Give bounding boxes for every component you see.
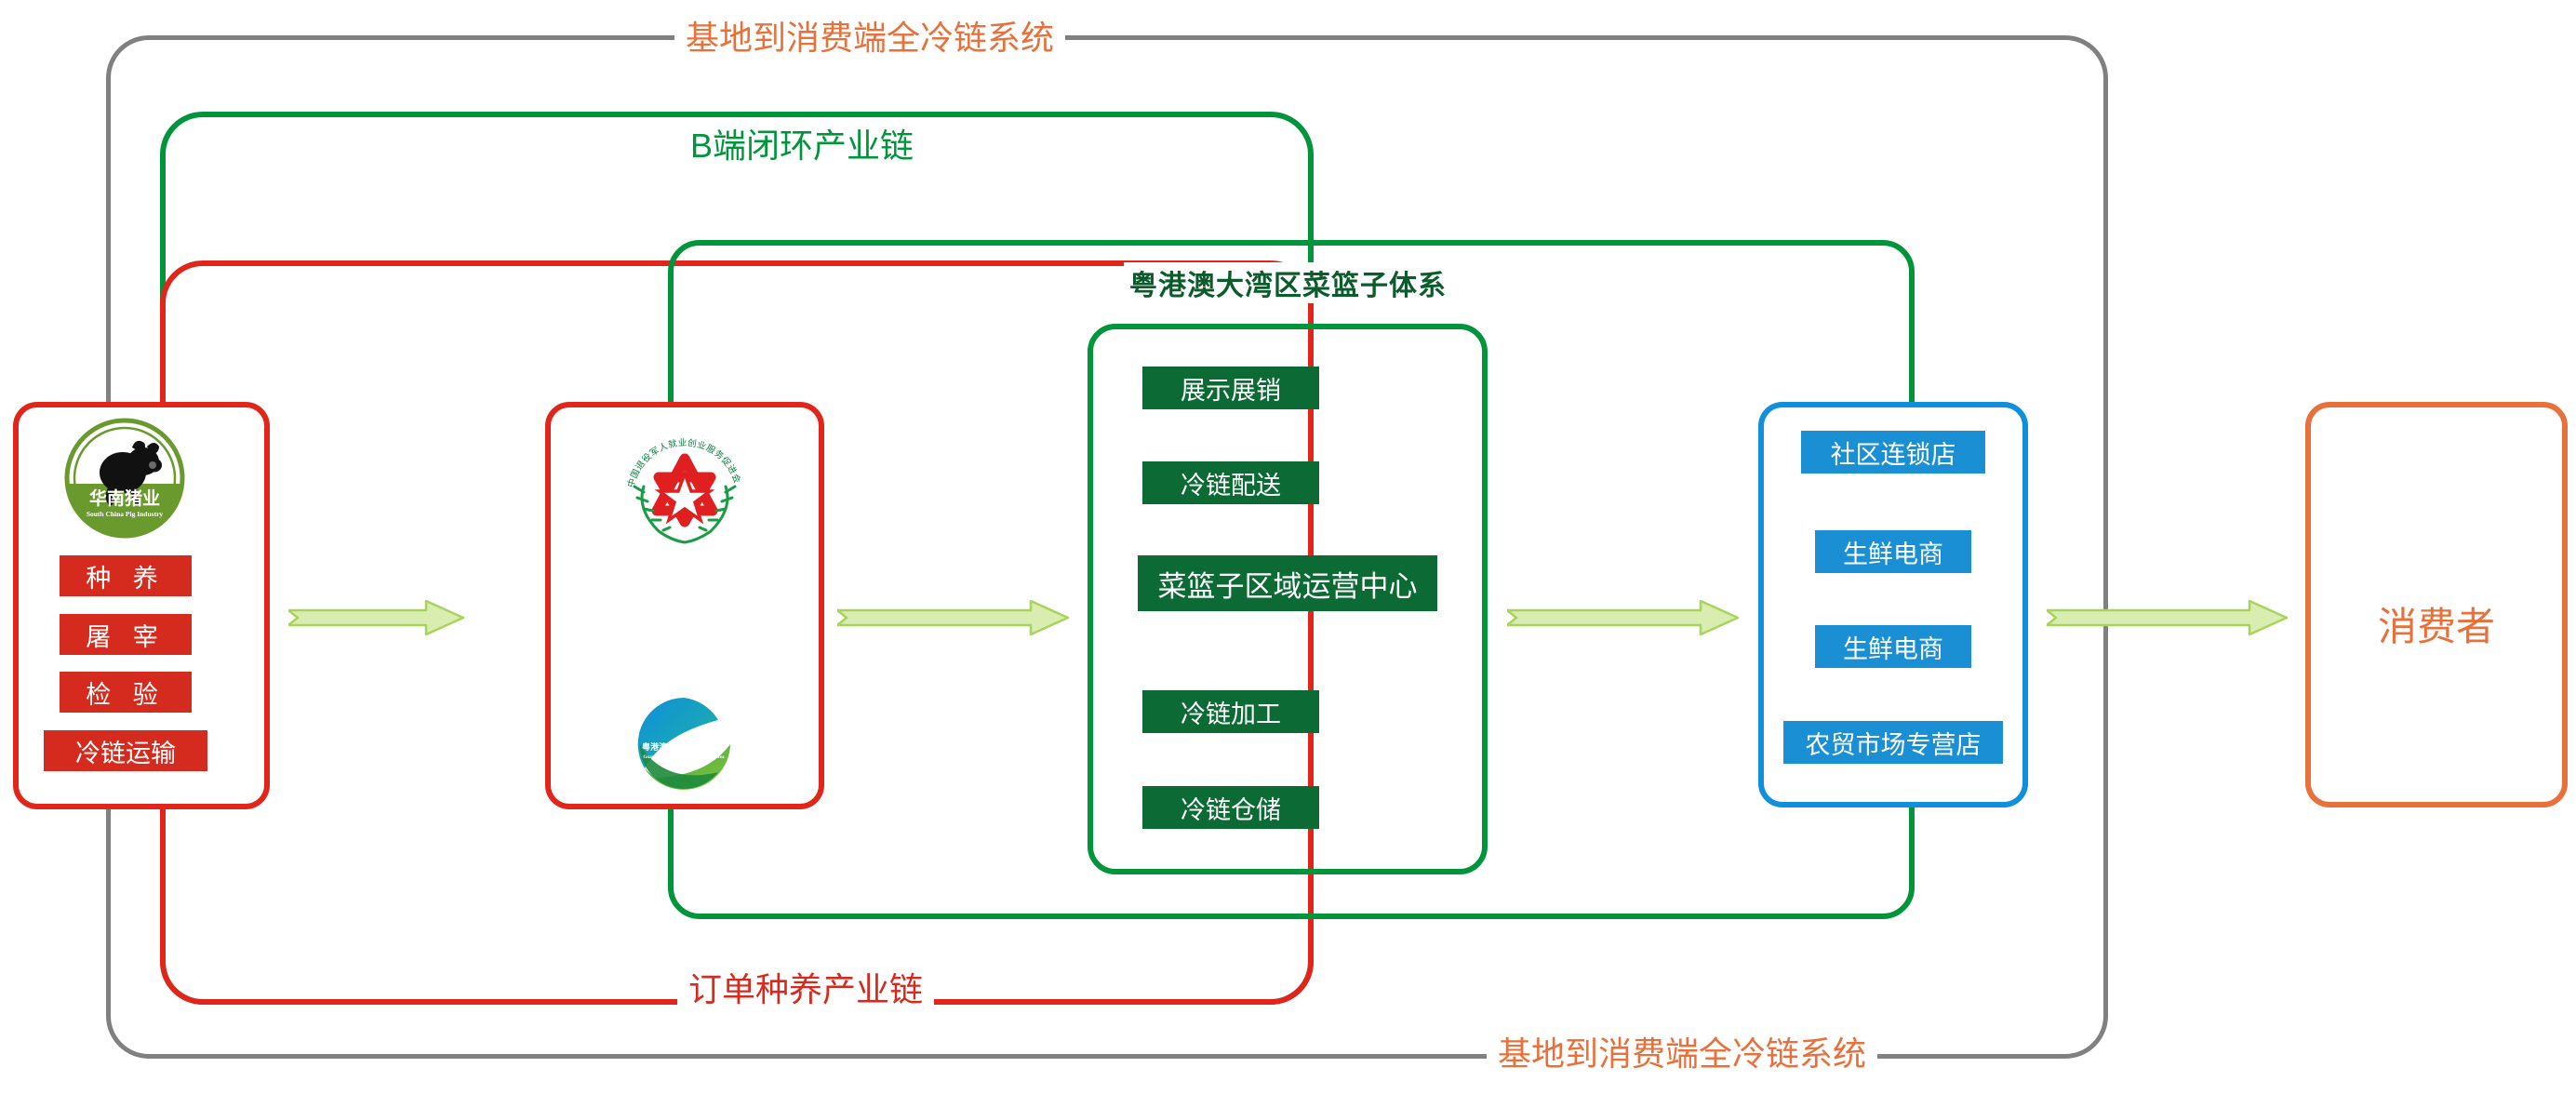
flow-arrow-bay-area-to-retail	[1507, 599, 1740, 636]
greater-bay-area-vegetable-basket-logo-icon: 粤港澳大湾区“菜篮子” Guangdong-HongKong-Macao Bay…	[625, 687, 742, 796]
svg-text:South China Pig Industry: South China Pig Industry	[87, 510, 164, 518]
retail-item-fresh-ecommerce-2[interactable]: 生鲜电商	[1815, 625, 1971, 668]
south-china-pig-logo-icon: 华南猪业 South China Pig Industry	[58, 417, 192, 540]
step-chip-breeding[interactable]: 种 养	[60, 555, 192, 596]
bay-item-cold-storage[interactable]: 冷链仓储	[1142, 786, 1319, 829]
svg-text:粤港澳大湾区“菜篮子”: 粤港澳大湾区“菜篮子”	[642, 741, 726, 752]
diagram-canvas: 基地到消费端全冷链系统 B端闭环产业链 粤港澳大湾区菜篮子体系 订单种养产业链 …	[0, 0, 2576, 1094]
consumer-label: 消费者	[2305, 595, 2568, 652]
svg-text:华南猪业: 华南猪业	[89, 487, 160, 509]
bay-item-cold-delivery[interactable]: 冷链配送	[1142, 461, 1319, 504]
step-chip-cold-transport[interactable]: 冷链运输	[44, 730, 207, 771]
svg-text:Guangdong-HongKong-Macao Bay A: Guangdong-HongKong-Macao Bay Area	[643, 755, 725, 760]
veterans-association-emblem-icon: 中国退役军人就业创业服务促进会	[612, 423, 757, 563]
bay-item-regional-center[interactable]: 菜篮子区域运营中心	[1138, 555, 1437, 611]
label-b-chain: B端闭环产业链	[679, 119, 925, 167]
flow-arrow-retail-to-consumer	[2047, 599, 2289, 636]
retail-item-community-chain-store[interactable]: 社区连锁店	[1801, 431, 1985, 474]
bay-item-exhibition[interactable]: 展示展销	[1142, 367, 1319, 409]
title-top: 基地到消费端全冷链系统	[674, 11, 1065, 60]
step-chip-inspection[interactable]: 检 验	[60, 672, 192, 713]
bay-area-title: 粤港澳大湾区菜篮子体系	[1124, 262, 1452, 303]
retail-item-fresh-ecommerce-1[interactable]: 生鲜电商	[1815, 530, 1971, 573]
flow-arrow-production-to-certification	[288, 599, 465, 636]
retail-item-farmers-market-store[interactable]: 农贸市场专营店	[1783, 721, 2003, 764]
flow-arrow-certification-to-bay-area	[837, 599, 1070, 636]
bay-item-cold-processing[interactable]: 冷链加工	[1142, 690, 1319, 733]
step-chip-slaughter[interactable]: 屠 宰	[60, 614, 192, 655]
label-order-chain: 订单种养产业链	[677, 963, 934, 1011]
title-bottom: 基地到消费端全冷链系统	[1487, 1027, 1877, 1075]
